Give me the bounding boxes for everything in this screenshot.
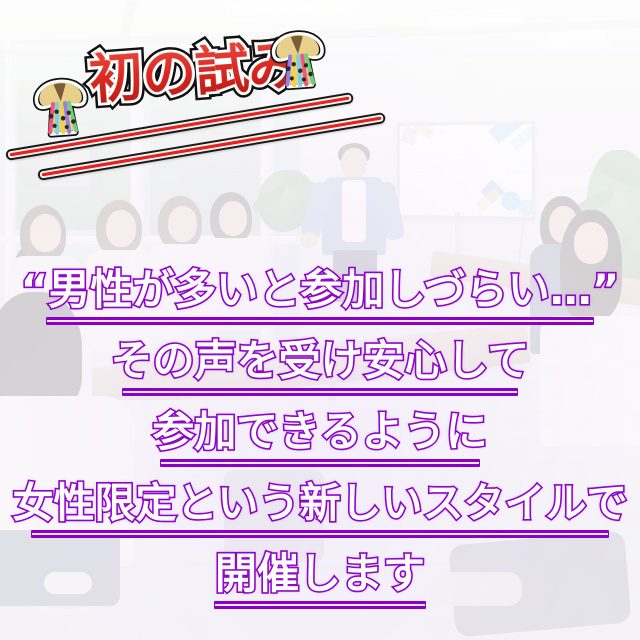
copy-underline [214, 601, 426, 609]
copy-underline [31, 530, 609, 538]
copy-line: 女性限定という新しいスタイルで [0, 475, 640, 546]
copy-line: 開催します [0, 546, 640, 617]
kusudama-icon [27, 69, 96, 148]
kusudama-icon [264, 22, 333, 101]
promo-graphic-canvas: 初の試み 初の試み 初の試み [0, 0, 640, 640]
copy-underline [160, 459, 480, 467]
presenter-shirt [342, 180, 366, 242]
main-copy-block: “男性が多いと参加しづらい…” その声を受け安心して 参加できるように 女性限定… [0, 262, 640, 617]
copy-line: 参加できるように [0, 404, 640, 475]
presentation-monitor [397, 121, 535, 220]
copy-line-text: その声を受け安心して [111, 333, 530, 389]
presenter-hand [300, 232, 318, 248]
copy-line: “男性が多いと参加しづらい…” [0, 262, 640, 333]
copy-underline [122, 388, 518, 396]
copy-line-text: 参加できるように [152, 404, 487, 460]
copy-line-text: 開催します [215, 546, 425, 602]
copy-line: その声を受け安心して [0, 333, 640, 404]
copy-line-text: “男性が多いと参加しづらい…” [21, 262, 620, 318]
slide-decoration [518, 199, 534, 215]
copy-line-text: 女性限定という新しいスタイルで [13, 475, 628, 531]
copy-underline [46, 317, 594, 325]
